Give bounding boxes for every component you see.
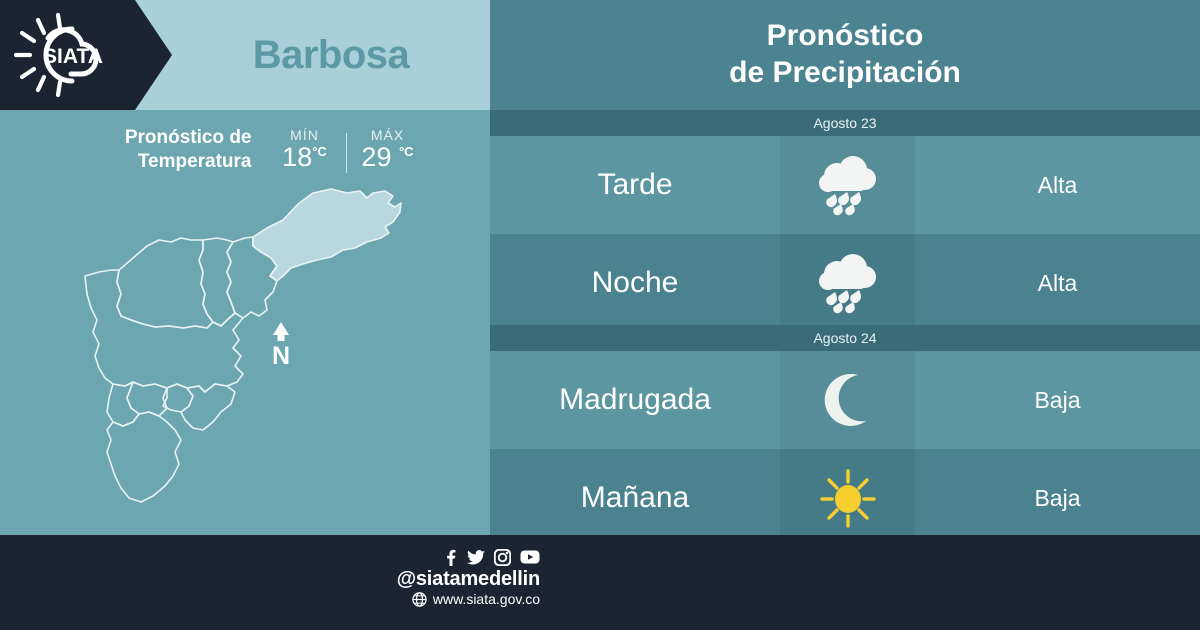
globe-icon (412, 592, 427, 607)
facebook-icon[interactable] (442, 549, 458, 566)
twitter-icon[interactable] (467, 549, 485, 566)
map-svg: N (55, 180, 435, 530)
forecast-level: Baja (915, 449, 1200, 547)
website-url: www.siata.gov.co (433, 591, 540, 607)
forecast-title-line2: de Precipitación (729, 55, 961, 92)
siata-sun-cloud-logo: SIATA (14, 12, 136, 98)
temperature-title: Pronóstico de Temperatura (72, 126, 252, 174)
temperature-max-unit: °C (399, 144, 414, 159)
website-row[interactable]: www.siata.gov.co (330, 591, 540, 607)
forecast-row[interactable]: Noche Alta (490, 234, 1200, 332)
temperature-title-line1: Pronóstico de (72, 126, 252, 150)
forecast-level: Baja (915, 351, 1200, 449)
map-region-medellin (85, 270, 243, 392)
temperature-max-number: 29 (361, 142, 391, 172)
temperature-block: Pronóstico de Temperatura MÍN 18°C MÁX 2… (0, 118, 490, 182)
forecast-title-line1: Pronóstico (767, 18, 924, 55)
footer: @siatamedellin www.siata.gov.co Con el a… (0, 535, 1200, 630)
temperature-max: MÁX 29 °C (357, 127, 419, 171)
compass-label: N (272, 342, 290, 370)
forecast-level: Alta (915, 136, 1200, 234)
map-region-bello (117, 238, 213, 328)
temperature-max-label: MÁX (357, 127, 419, 143)
siata-logo-text: SIATA (43, 45, 103, 68)
weather-forecast-infographic: SIATA Barbosa Pronóstico de Temperatura … (0, 0, 1200, 630)
temperature-min-label: MÍN (274, 127, 336, 143)
forecast-period: Madrugada (490, 351, 780, 449)
social-block: @siatamedellin www.siata.gov.co (330, 549, 540, 607)
youtube-icon[interactable] (520, 549, 540, 565)
forecast-row[interactable]: Madrugada Baja (490, 351, 1200, 449)
left-panel: SIATA Barbosa Pronóstico de Temperatura … (0, 0, 490, 535)
moon-icon (820, 371, 876, 429)
date-strip-agosto-23: Agosto 23 (490, 110, 1200, 136)
aburra-valley-map: N (55, 180, 435, 530)
forecast-weather-icon-cell (780, 449, 915, 547)
temperature-min-number: 18 (282, 142, 312, 172)
temperature-min-value: 18°C (274, 143, 336, 171)
temperature-values: MÍN 18°C MÁX 29 °C (274, 127, 419, 173)
compass-north: N (272, 322, 290, 370)
sun-icon (817, 467, 879, 529)
rain-cloud-icon (813, 252, 883, 314)
forecast-period: Tarde (490, 136, 780, 234)
map-region-caldas (107, 412, 181, 502)
map-region-itagui (127, 382, 167, 416)
forecast-weather-icon-cell (780, 234, 915, 332)
social-handle[interactable]: @siatamedellin (330, 568, 540, 591)
map-region-copacabana (199, 238, 235, 326)
precipitation-panel: Pronóstico de Precipitación Agosto 23 Ta… (490, 0, 1200, 535)
date-strip-agosto-24: Agosto 24 (490, 325, 1200, 351)
forecast-weather-icon-cell (780, 136, 915, 234)
forecast-row[interactable]: Mañana Baja (490, 449, 1200, 547)
forecast-row[interactable]: Tarde Alta (490, 136, 1200, 234)
forecast-title: Pronóstico de Precipitación (490, 0, 1200, 110)
temperature-min: MÍN 18°C (274, 127, 336, 171)
forecast-level: Alta (915, 234, 1200, 332)
temperature-divider (346, 133, 347, 173)
temperature-max-value: 29 °C (357, 143, 419, 171)
map-region-envigado (181, 384, 235, 430)
forecast-period: Mañana (490, 449, 780, 547)
city-name: Barbosa (172, 0, 490, 110)
instagram-icon[interactable] (494, 549, 511, 566)
forecast-weather-icon-cell (780, 351, 915, 449)
forecast-period: Noche (490, 234, 780, 332)
rain-cloud-icon (813, 154, 883, 216)
temperature-min-unit: °C (312, 144, 327, 159)
social-icons (330, 549, 540, 566)
temperature-title-line2: Temperatura (72, 150, 252, 174)
